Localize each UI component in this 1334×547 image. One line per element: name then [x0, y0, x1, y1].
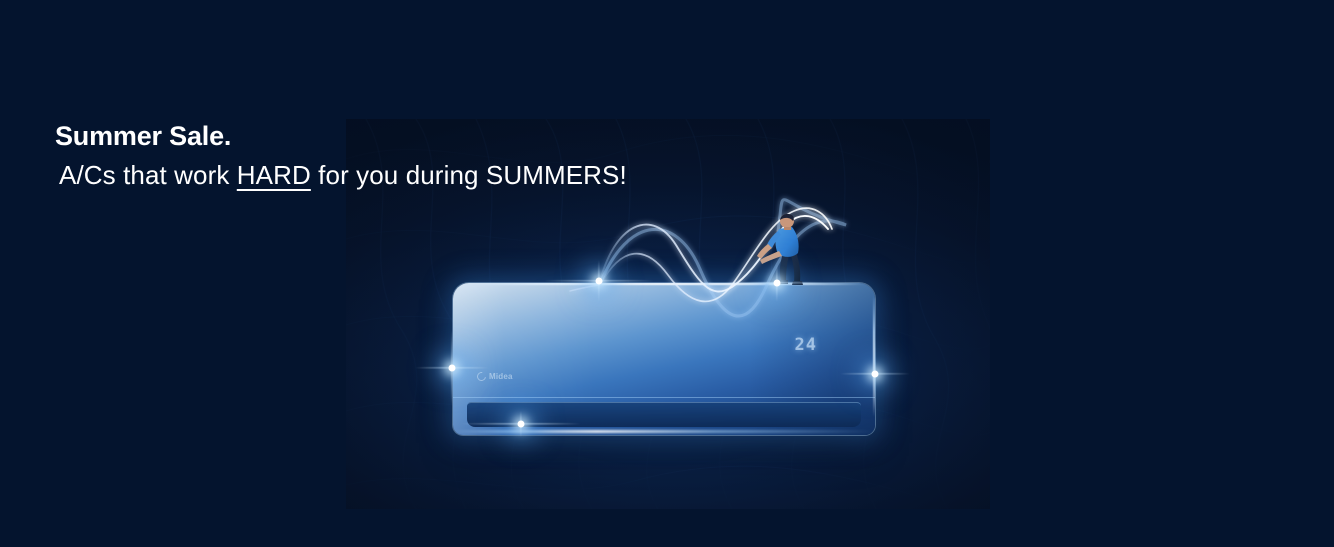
- summer-sale-banner: Summer Sale. A/Cs that work HARD for you…: [0, 0, 1334, 547]
- ac-unit-body: 24 Midea: [453, 283, 875, 435]
- subtitle-emphasis-hard: HARD: [237, 160, 311, 190]
- ac-vent-louver: [467, 402, 861, 427]
- air-conditioner-unit: 24 Midea: [453, 283, 875, 435]
- ac-air-vent: [453, 397, 875, 435]
- ac-vent-highlight: [453, 430, 875, 433]
- ac-temperature-value: 24: [795, 335, 817, 355]
- brand-swirl-icon: [475, 370, 488, 383]
- brand-name-label: Midea: [489, 372, 513, 381]
- subtitle-text-before: A/Cs that work: [59, 160, 237, 190]
- ac-top-edge-highlight: [463, 283, 865, 285]
- ac-temperature-display: 24: [795, 335, 817, 355]
- ac-brand-logo: Midea: [477, 372, 513, 381]
